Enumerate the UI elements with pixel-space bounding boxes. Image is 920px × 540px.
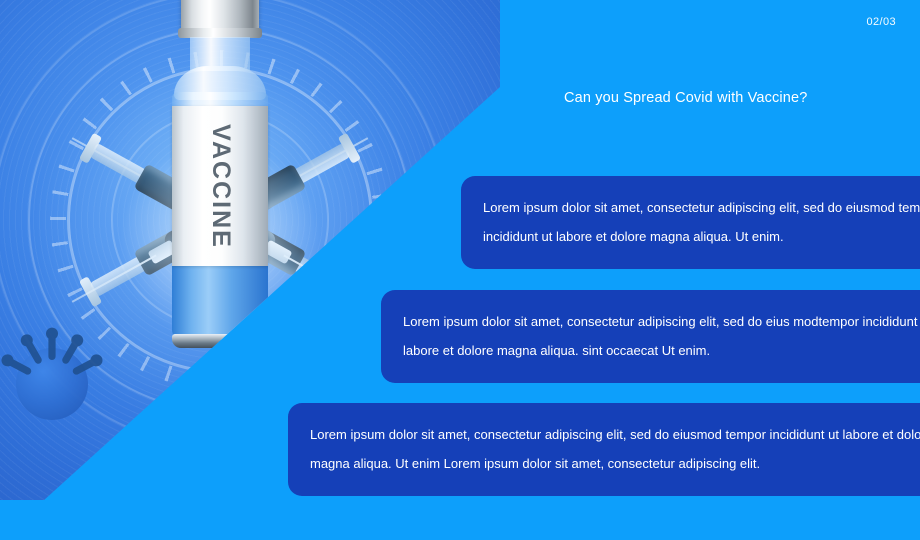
page-counter: 02/03 bbox=[866, 16, 896, 28]
content-block-1: Lorem ipsum dolor sit amet, consectetur … bbox=[461, 176, 920, 269]
content-block-3: Lorem ipsum dolor sit amet, consectetur … bbox=[288, 403, 920, 496]
vial-base bbox=[172, 334, 268, 348]
content-block-2: Lorem ipsum dolor sit amet, consectetur … bbox=[381, 290, 920, 383]
page-title: Can you Spread Covid with Vaccine? bbox=[564, 90, 807, 106]
vaccine-vial-icon: VACCINE bbox=[164, 0, 276, 348]
slide-canvas: VACCINE 02/03 Can you Spread Covid with … bbox=[0, 0, 920, 540]
vial-label: VACCINE bbox=[172, 106, 268, 266]
virus-particle-bottom-icon bbox=[0, 326, 110, 441]
vial-label-text: VACCINE bbox=[206, 124, 235, 249]
virus-particle-top-icon bbox=[280, 0, 400, 6]
